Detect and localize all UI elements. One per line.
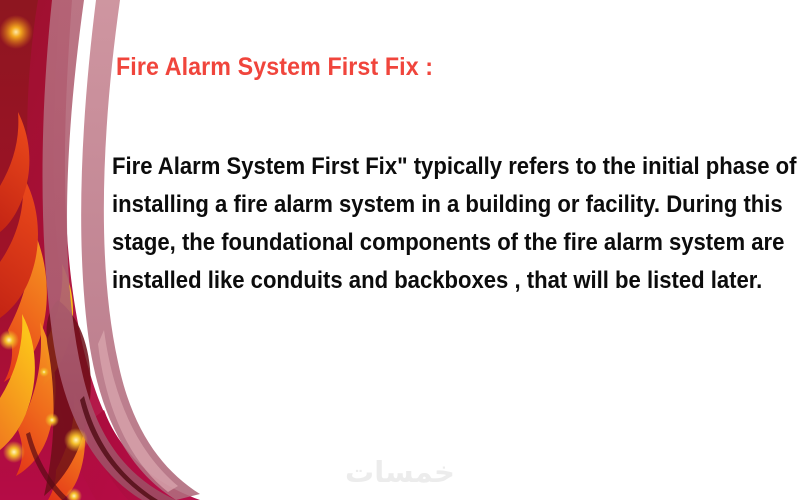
decor-flame-4 [0, 314, 35, 450]
body-line-3: stage, the foundational components of th… [112, 224, 738, 262]
decor-spark-1 [0, 330, 19, 350]
body-line-2: installing a fire alarm system in a buil… [112, 186, 738, 224]
slide-body-text: Fire Alarm System First Fix" typically r… [112, 148, 738, 300]
decor-flame-3 [16, 322, 56, 476]
decor-flame-6 [0, 112, 29, 232]
body-line-4: installed like conduits and backboxes , … [112, 262, 738, 300]
decor-spark-4 [64, 428, 88, 452]
decor-flame-1 [4, 222, 47, 382]
decor-flame-2 [0, 174, 38, 318]
decor-spark-6 [39, 367, 49, 377]
khamsat-watermark: خمسات [0, 455, 800, 489]
decor-flame-5 [42, 264, 73, 386]
decor-spark-top [0, 15, 33, 49]
slide-canvas: Fire Alarm System First Fix : Fire Alarm… [0, 0, 800, 500]
decor-spark-2 [45, 413, 59, 427]
slide-title: Fire Alarm System First Fix : [116, 53, 433, 82]
body-line-1: Fire Alarm System First Fix" typically r… [112, 148, 738, 186]
decor-spark-5 [66, 488, 82, 500]
